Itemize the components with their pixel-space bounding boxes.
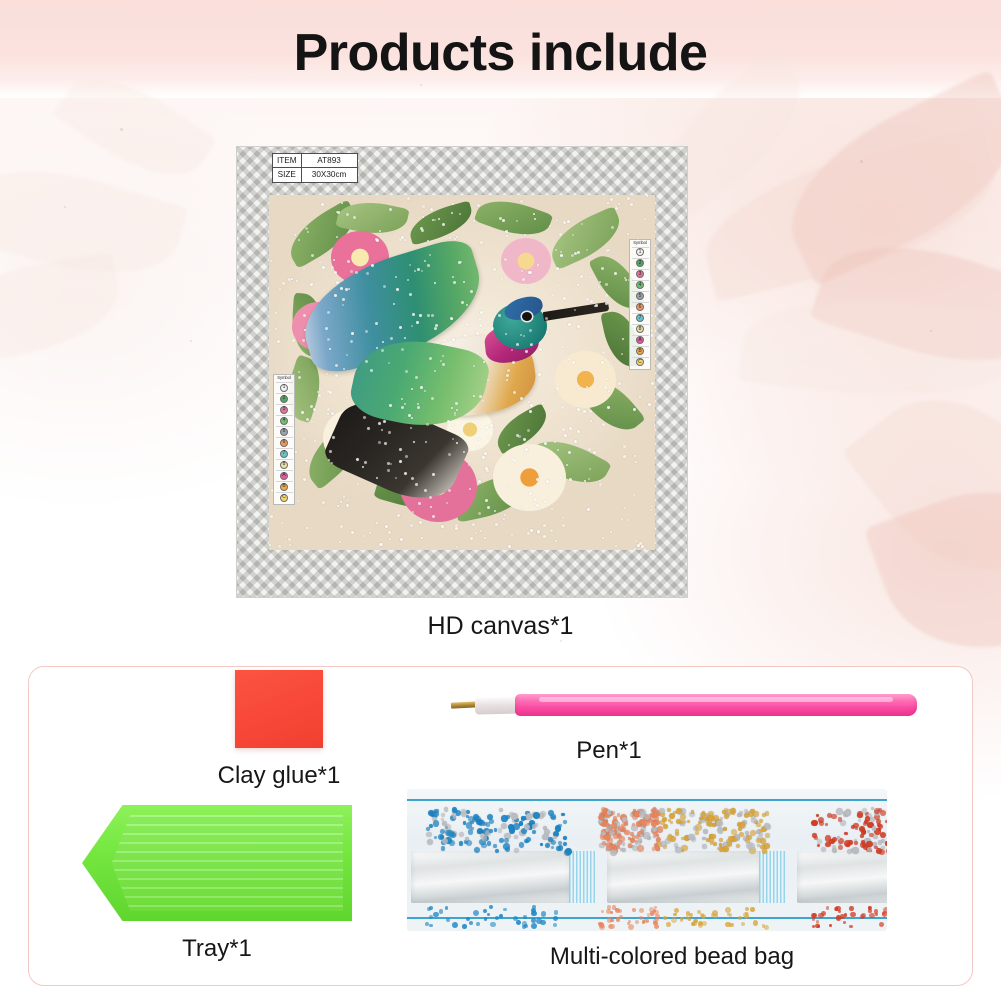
bead (818, 913, 824, 919)
legend-symbol: 6 (280, 439, 288, 447)
bead (622, 848, 626, 852)
bead (718, 828, 724, 834)
artwork-scene (269, 195, 655, 550)
bead (425, 922, 428, 925)
bead (541, 911, 546, 916)
bead (662, 817, 667, 822)
legend-symbol: B (636, 347, 644, 355)
tray-item: Tray*1 (67, 805, 367, 963)
bead (744, 813, 749, 818)
spec-table: ITEM AT893 SIZE 30X30cm (272, 153, 358, 183)
legend-row: 2 (632, 258, 649, 268)
bead (657, 826, 663, 832)
bead (651, 821, 657, 827)
bead (490, 922, 496, 928)
bead (666, 922, 671, 927)
legend-row: 5 (276, 426, 293, 436)
bead (433, 912, 439, 918)
bead (486, 822, 490, 826)
bead (873, 835, 877, 839)
bead (617, 813, 621, 817)
bead (663, 824, 668, 829)
legend-row: 4 (276, 415, 293, 425)
bead (671, 917, 677, 923)
tray-grooves (112, 815, 343, 911)
bead (493, 844, 497, 848)
bead (503, 908, 507, 912)
bead (445, 906, 449, 910)
bead (674, 908, 679, 913)
bead (426, 827, 430, 831)
bead (750, 830, 756, 836)
bead (759, 832, 763, 836)
legend-symbol: 5 (280, 428, 288, 436)
bead (819, 821, 824, 826)
legend-row: 8 (276, 459, 293, 469)
bead (849, 906, 854, 911)
bead (879, 922, 884, 927)
bead (838, 845, 843, 850)
bead (812, 833, 817, 838)
bead (825, 823, 829, 827)
bead (536, 918, 542, 924)
bead (608, 924, 613, 929)
bead (556, 846, 561, 851)
pen-caption: Pen*1 (289, 737, 929, 765)
bead (687, 820, 690, 823)
bead (434, 836, 437, 839)
bead (489, 819, 494, 824)
bead (880, 832, 886, 838)
bead (706, 822, 710, 826)
bead (545, 843, 550, 848)
legend-row: C (632, 357, 649, 367)
bead (854, 841, 858, 845)
table-row: SIZE 30X30cm (273, 168, 358, 182)
bead (719, 838, 723, 842)
bead (632, 908, 636, 912)
bead (691, 810, 694, 813)
bead (727, 842, 733, 848)
bead (654, 924, 659, 929)
bead (429, 906, 434, 911)
legend-symbol: 5 (636, 292, 644, 300)
bead (513, 916, 519, 922)
bead (476, 922, 480, 926)
tray-figure (82, 805, 352, 921)
bead (832, 848, 837, 853)
legend-symbol: A (280, 472, 288, 480)
bead (635, 920, 639, 924)
bead-bag-item: Multi-colored bead bag (407, 789, 937, 971)
legend-title: Symbol (633, 241, 646, 246)
legend-symbol: C (280, 494, 288, 502)
bead (617, 845, 620, 848)
bead (831, 814, 837, 820)
bead (855, 827, 858, 830)
bead (681, 845, 688, 852)
bird-beak (543, 302, 609, 321)
bead (716, 820, 723, 827)
legend-row: 6 (276, 437, 293, 447)
bead (637, 845, 644, 852)
bead (653, 807, 657, 811)
bead (487, 913, 490, 916)
bead (815, 924, 820, 929)
bead (540, 843, 543, 846)
bead (874, 909, 879, 914)
bead (702, 844, 707, 849)
legend-symbol: 3 (280, 406, 288, 414)
bead (885, 841, 887, 845)
bead (745, 912, 748, 915)
bead (700, 913, 704, 917)
bead (447, 830, 454, 837)
bead (878, 840, 883, 845)
bead (876, 848, 882, 854)
pen-figure (429, 685, 929, 723)
bead (499, 808, 503, 812)
legend-symbol: 3 (636, 270, 644, 278)
bead (439, 909, 443, 913)
legend-symbol: 2 (636, 259, 644, 267)
bead (483, 909, 487, 913)
bead (762, 813, 766, 817)
bead (501, 823, 508, 830)
legend-row: C (276, 492, 293, 502)
bead (652, 827, 657, 832)
bead (511, 813, 518, 820)
bead (561, 813, 565, 817)
bead (650, 813, 654, 817)
bead (434, 809, 439, 814)
bead (624, 822, 628, 826)
bead (616, 917, 621, 922)
bead (826, 906, 830, 910)
bead (692, 921, 697, 926)
legend-row: 6 (632, 302, 649, 312)
bead (676, 808, 682, 814)
bead (762, 848, 768, 854)
bead (883, 907, 887, 913)
bead (764, 843, 771, 850)
legend-row: A (276, 470, 293, 480)
bead (695, 824, 702, 831)
bead (733, 837, 738, 842)
bead (563, 820, 567, 824)
speckle (64, 206, 66, 208)
bead (750, 907, 755, 912)
bead (551, 846, 554, 849)
bead (628, 924, 634, 930)
bead (459, 832, 464, 837)
legend-symbol: 8 (636, 325, 644, 333)
bead (745, 907, 749, 911)
bead (607, 917, 612, 922)
bead (452, 922, 458, 928)
bead (653, 910, 656, 913)
bead (532, 830, 536, 834)
bead (441, 846, 446, 851)
bead (860, 834, 864, 838)
bead (514, 835, 517, 838)
bead (473, 814, 479, 820)
bead (845, 809, 852, 816)
bead (835, 907, 839, 911)
bead (844, 832, 848, 836)
bead (474, 847, 480, 853)
pen-item: Pen*1 (429, 685, 929, 765)
bead (836, 808, 843, 815)
bead (532, 824, 537, 829)
bead (426, 832, 432, 838)
bead (858, 819, 861, 822)
bead (745, 831, 749, 835)
speckle (930, 330, 932, 332)
bead (639, 811, 646, 818)
bead (631, 825, 637, 831)
legend-symbol: 4 (636, 281, 644, 289)
bead (618, 909, 622, 913)
bead (688, 834, 694, 840)
bead (663, 916, 668, 921)
bead (558, 824, 562, 828)
bead (812, 913, 817, 918)
bead (433, 820, 439, 826)
accessories-card: Clay glue*1 Pen*1 Tray*1 Multi-colored b… (28, 666, 973, 986)
bead (817, 844, 820, 847)
bead (832, 837, 837, 842)
bead (605, 828, 609, 832)
clay-glue-item: Clay glue*1 (204, 670, 354, 790)
bead-bag-figure (407, 789, 887, 931)
bead (654, 816, 659, 821)
bead (762, 924, 766, 928)
bead (703, 829, 708, 834)
bead-cluster-layer (407, 789, 887, 931)
bead (886, 848, 887, 854)
bead (466, 840, 472, 846)
legend-row: 2 (276, 393, 293, 403)
bead (647, 913, 650, 916)
legend-symbol: 8 (280, 461, 288, 469)
page-title-text: Products include (294, 24, 708, 82)
bead (843, 921, 846, 924)
legend-row: 7 (276, 448, 293, 458)
bead (469, 921, 473, 925)
legend-symbol: 6 (636, 303, 644, 311)
legend-symbol: 1 (636, 248, 644, 256)
bead (750, 809, 755, 814)
clay-glue-caption: Clay glue*1 (204, 762, 354, 790)
bead (862, 808, 868, 814)
bead (553, 836, 557, 840)
bead-bag-caption: Multi-colored bead bag (407, 943, 937, 971)
bead (548, 837, 553, 842)
speckle (420, 84, 422, 86)
legend-symbol: 4 (280, 417, 288, 425)
legend-symbol: 2 (280, 395, 288, 403)
legend-row: 1 (632, 247, 649, 257)
bead (531, 911, 537, 917)
bead (875, 913, 878, 916)
bead (519, 842, 525, 848)
canvas-artwork: Symbol 12345678ABC Symbol 12345678ABC (269, 195, 655, 550)
bead (741, 922, 745, 926)
bead (630, 832, 634, 836)
legend-row: 3 (632, 269, 649, 279)
bead (829, 924, 833, 928)
bead (870, 817, 876, 823)
bead (667, 835, 673, 841)
bead (427, 839, 433, 845)
bead (740, 822, 746, 828)
bead (628, 843, 633, 848)
bead (739, 811, 743, 815)
bead (514, 848, 519, 853)
bead (639, 908, 644, 913)
bead (498, 828, 503, 833)
bead (712, 823, 716, 827)
bead (553, 923, 557, 927)
bead (563, 836, 567, 840)
bead (531, 923, 537, 929)
bead (522, 925, 526, 929)
bead (628, 920, 632, 924)
bead (611, 823, 617, 829)
bead (657, 842, 662, 847)
bead (663, 845, 667, 849)
page-title: Products include (0, 27, 1001, 79)
legend-row: 1 (276, 382, 293, 392)
bead (713, 914, 718, 919)
legend-symbol: 1 (280, 384, 288, 392)
bead (442, 821, 447, 826)
hd-canvas-caption: HD canvas*1 (0, 612, 1001, 641)
symbol-legend-left: Symbol 12345678ABC (273, 374, 295, 505)
bead (738, 916, 742, 920)
bead (484, 917, 488, 921)
bead (852, 847, 858, 853)
speckle (860, 160, 863, 163)
bead (481, 834, 488, 841)
bead (481, 843, 486, 848)
bead (553, 916, 559, 922)
bead (565, 848, 572, 855)
legend-row: 5 (632, 291, 649, 301)
hd-canvas-product: ITEM AT893 SIZE 30X30cm (236, 146, 688, 598)
legend-row: 8 (632, 324, 649, 334)
bead (756, 838, 761, 843)
bead (461, 809, 466, 814)
bead (471, 827, 475, 831)
bead (554, 910, 559, 915)
bead (444, 807, 448, 811)
bead (702, 921, 708, 927)
bead (695, 831, 699, 835)
bead (495, 849, 499, 853)
legend-symbol: 7 (280, 450, 288, 458)
hummingbird-figure (269, 195, 655, 550)
legend-row: 3 (276, 404, 293, 414)
bead (753, 920, 758, 925)
legend-symbol: A (636, 336, 644, 344)
bead (601, 910, 604, 913)
bead (850, 912, 855, 917)
bead (489, 905, 493, 909)
legend-title: Symbol (277, 376, 290, 381)
spec-value-size: 30X30cm (301, 168, 357, 182)
bead (885, 820, 887, 823)
legend-row: 7 (632, 313, 649, 323)
bead (765, 833, 769, 837)
bead (725, 922, 730, 927)
bead (673, 913, 677, 917)
bead (643, 832, 649, 838)
bead (680, 919, 684, 923)
bead (736, 844, 740, 848)
bead (509, 827, 516, 834)
legend-row: B (276, 481, 293, 491)
bead (675, 847, 682, 854)
bead (844, 840, 851, 847)
bead (861, 913, 866, 918)
symbol-legend-right: Symbol 12345678ABC (629, 239, 651, 370)
bead (452, 807, 457, 812)
bead (473, 910, 479, 916)
bead (446, 918, 450, 922)
bead (558, 841, 562, 845)
bead (523, 915, 527, 919)
bead (821, 847, 826, 852)
bead (723, 827, 728, 832)
bead (712, 818, 716, 822)
bead (459, 841, 464, 846)
bead (525, 840, 528, 843)
bead (429, 924, 432, 927)
bead (494, 828, 497, 831)
legend-symbol: B (280, 483, 288, 491)
bead (622, 842, 626, 846)
bead (840, 914, 845, 919)
bead (759, 819, 763, 823)
table-row: ITEM AT893 (273, 154, 358, 168)
bead (713, 842, 717, 846)
hd-canvas-caption-text: HD canvas*1 (428, 612, 574, 640)
legend-row: B (632, 346, 649, 356)
bead (462, 924, 466, 928)
bead (655, 914, 661, 920)
bead (489, 829, 493, 833)
bead (847, 849, 852, 854)
bead (503, 843, 510, 850)
bead (811, 820, 818, 827)
bead (719, 847, 724, 852)
bead (533, 812, 540, 819)
bead (618, 826, 623, 831)
bead (729, 913, 732, 916)
bead (667, 808, 671, 812)
bead (725, 907, 731, 913)
spec-key-item: ITEM (273, 154, 302, 168)
spec-value-item: AT893 (301, 154, 357, 168)
bead (702, 811, 705, 814)
bead (499, 914, 503, 918)
legend-row: 4 (632, 280, 649, 290)
legend-symbol: C (636, 358, 644, 366)
legend-symbol: 7 (636, 314, 644, 322)
speckle (120, 128, 123, 131)
